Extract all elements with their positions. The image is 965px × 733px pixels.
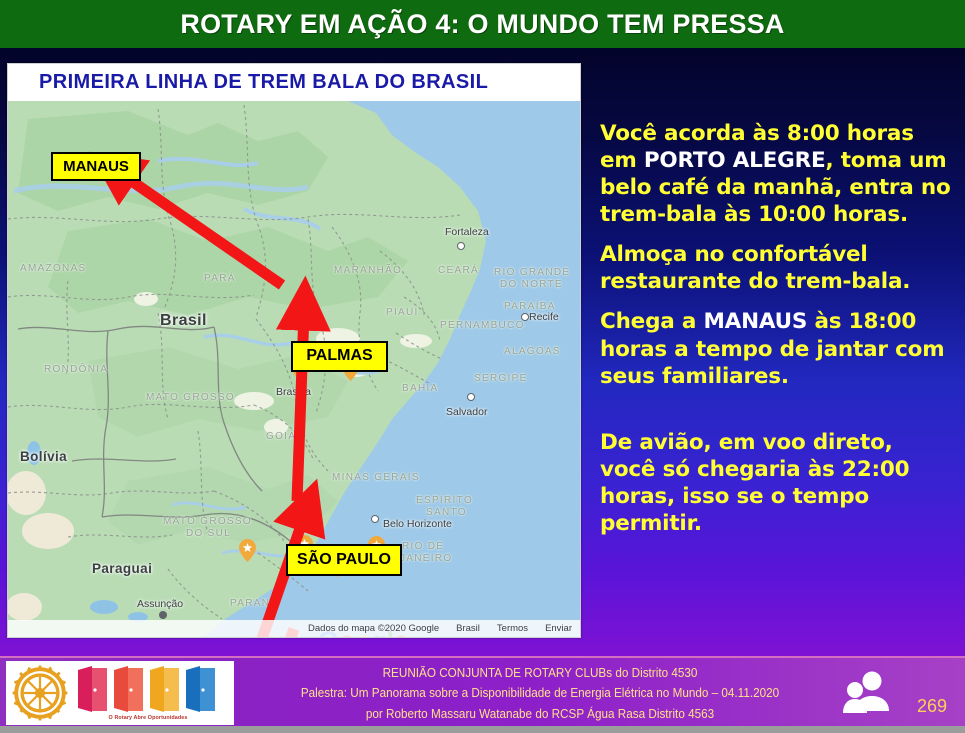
footer-line-3: por Roberto Massaru Watanabe do RCSP Águ…	[261, 704, 819, 724]
slide-footer: O Rotary Abre Oportunidades REUNIÃO CONJ…	[0, 656, 965, 728]
map-label-pernambuco: PERNAMBUCO	[440, 320, 525, 331]
map-label-brasilia: Brasília	[276, 386, 311, 398]
city-dot-assuncao	[159, 611, 167, 619]
city-highlight-porto-alegre: PORTO ALEGRE	[644, 148, 826, 173]
map-label-para: PARÁ	[204, 273, 236, 284]
map-callout-manaus-label: MANAUS	[63, 159, 129, 175]
map-label-espirito: ESPÍRITO	[416, 495, 473, 506]
map-label-belo-horizonte: Belo Horizonte	[383, 518, 452, 530]
paragraph-wakeup: Você acorda às 8:00 horas em PORTO ALEGR…	[600, 120, 955, 228]
slide: ROTARY EM AÇÃO 4: O MUNDO TEM PRESSA PRI…	[0, 0, 965, 733]
map-label-salvador: Salvador	[446, 406, 487, 418]
map-label-assuncao: Assunção	[137, 598, 183, 610]
rotary-doors-graphic: O Rotary Abre Oportunidades	[74, 664, 222, 722]
map-label-fortaleza: Fortaleza	[445, 226, 489, 238]
map-callout-sao-paulo[interactable]: SÃO PAULO	[286, 544, 402, 576]
map-attribution-bar: Dados do mapa ©2020 Google Brasil Termos…	[8, 620, 580, 637]
rotary-logo-block: O Rotary Abre Oportunidades	[6, 661, 234, 725]
paragraph-lunch: Almoça no confortável restaurante do tre…	[600, 241, 955, 295]
map-label-maranhao: MARANHÃO	[334, 265, 402, 276]
narrative-text-panel: Você acorda às 8:00 horas em PORTO ALEGR…	[600, 120, 955, 550]
open-doors-icon	[74, 664, 222, 716]
people-group-icon	[842, 670, 890, 715]
map-label-alagoas: ALAGOAS	[504, 346, 561, 357]
map-label-bahia: BAHIA	[402, 383, 439, 394]
rotary-wheel-icon	[12, 665, 68, 721]
map-label-santo: SANTO	[426, 507, 467, 518]
map-label-rio-de: RIO DE	[402, 541, 444, 552]
map-label-rio-grande-n-2: DO NORTE	[500, 279, 563, 290]
map-label-recife: Recife	[529, 311, 559, 323]
map-label-amazonas: AMAZONAS	[20, 263, 87, 274]
footer-line-1: REUNIÃO CONJUNTA DE ROTARY CLUBs do Dist…	[261, 663, 819, 683]
map-label-ceara: CEARÁ	[438, 265, 479, 276]
map-card: PRIMEIRA LINHA DE TREM BALA DO BRASIL	[7, 63, 581, 638]
map-label-minas-gerais: MINAS GERAIS	[332, 472, 420, 483]
map-callout-palmas[interactable]: PALMAS	[291, 341, 388, 372]
map-label-mato-grosso-sul-2: DO SUL	[186, 528, 231, 539]
map-label-rio-grande-n-1: RIO GRANDE	[494, 267, 570, 278]
map-attribution-copyright: Dados do mapa ©2020 Google	[308, 623, 439, 634]
map-label-piaui: PIAUÍ	[386, 307, 419, 318]
map-label-brasil: Brasil	[160, 312, 207, 330]
map-callout-sao-paulo-label: SÃO PAULO	[297, 552, 391, 569]
map-label-rondonia: RONDÔNIA	[44, 364, 108, 375]
map-label-mato-grosso-sul-1: MATO GROSSO	[163, 516, 252, 527]
map-label-parana: PARANÁ	[230, 598, 278, 609]
map-callout-manaus[interactable]: MANAUS	[51, 152, 141, 181]
map-label-paraguai: Paraguai	[92, 561, 152, 576]
map-canvas[interactable]: AMAZONAS PARÁ MARANHÃO CEARÁ RIO GRANDE …	[8, 101, 580, 637]
city-dot-salvador	[467, 393, 475, 401]
footer-text-block: REUNIÃO CONJUNTA DE ROTARY CLUBs do Dist…	[240, 663, 840, 724]
city-dot-fortaleza	[457, 242, 465, 250]
paragraph-arrival: Chega a MANAUS às 18:00 horas a tempo de…	[600, 308, 955, 389]
map-title-text: PRIMEIRA LINHA DE TREM BALA DO BRASIL	[39, 71, 488, 94]
map-label-goias: GOIÁS	[266, 431, 304, 442]
map-attribution-feedback[interactable]: Enviar	[545, 623, 572, 634]
map-label-janeiro: JANEIRO	[400, 553, 452, 564]
page-title: ROTARY EM AÇÃO 4: O MUNDO TEM PRESSA	[180, 9, 784, 40]
rotary-logo-caption: O Rotary Abre Oportunidades	[74, 715, 222, 721]
map-attribution-terms[interactable]: Termos	[497, 623, 528, 634]
city-highlight-manaus: MANAUS	[703, 309, 807, 334]
slide-bottom-edge	[0, 726, 965, 733]
map-attribution-country[interactable]: Brasil	[456, 623, 480, 634]
paragraph-airplane: De avião, em voo direto, você só chegari…	[600, 429, 955, 537]
paragraph-spacer	[600, 403, 955, 429]
poi-pin-star-icon	[239, 539, 256, 562]
city-dot-recife	[521, 313, 529, 321]
slide-title-band: ROTARY EM AÇÃO 4: O MUNDO TEM PRESSA	[0, 0, 965, 48]
map-label-bolivia: Bolívia	[20, 449, 67, 464]
page-number: 269	[917, 696, 947, 717]
city-dot-belo-horizonte	[371, 515, 379, 523]
map-title-bar: PRIMEIRA LINHA DE TREM BALA DO BRASIL	[8, 64, 580, 101]
map-label-sergipe: SERGIPE	[474, 373, 528, 384]
paragraph-arrival-part1: Chega a	[600, 309, 703, 334]
map-callout-palmas-label: PALMAS	[306, 348, 372, 365]
footer-line-2: Palestra: Um Panorama sobre a Disponibil…	[261, 683, 819, 703]
map-label-mato-grosso: MATO GROSSO	[146, 392, 235, 403]
